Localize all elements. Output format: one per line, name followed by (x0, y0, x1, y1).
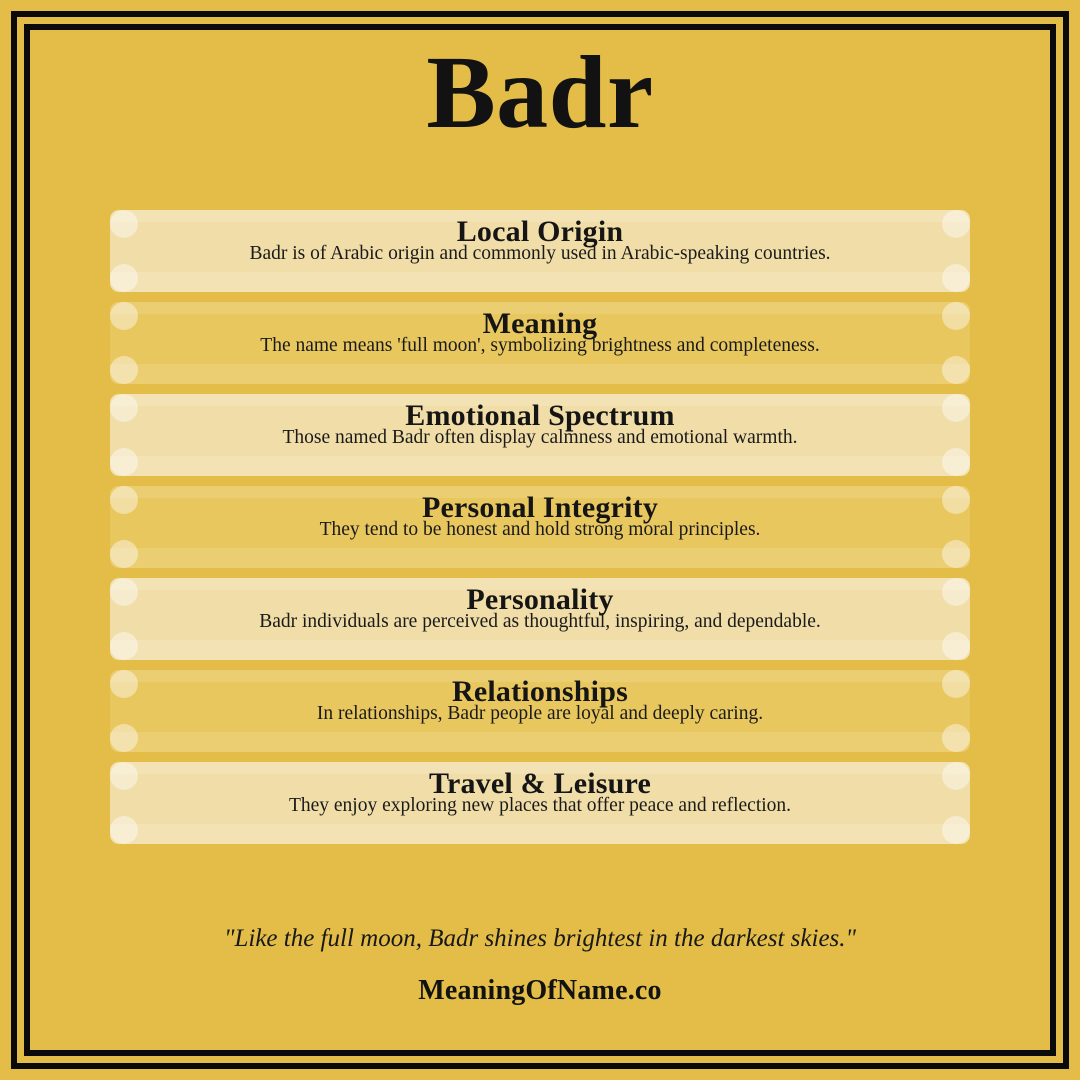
scroll-rod-bolt-icon (110, 264, 138, 292)
card-title: Local Origin (110, 210, 970, 247)
card-text-block: Travel & LeisureThey enjoy exploring new… (110, 762, 970, 816)
tagline-quote: "Like the full moon, Badr shines brighte… (30, 925, 1050, 953)
attribute-card: MeaningThe name means 'full moon', symbo… (110, 302, 970, 384)
attribute-card: Local OriginBadr is of Arabic origin and… (110, 210, 970, 292)
attribute-card: RelationshipsIn relationships, Badr peop… (110, 670, 970, 752)
scroll-rod-bolt-icon (110, 632, 138, 660)
scroll-rod-bolt-icon (942, 816, 970, 844)
card-title: Meaning (110, 302, 970, 339)
scroll-rod-bolt-icon (110, 540, 138, 568)
card-title: Emotional Spectrum (110, 394, 970, 431)
attribute-card: Travel & LeisureThey enjoy exploring new… (110, 762, 970, 844)
card-title: Personality (110, 578, 970, 615)
card-description: Those named Badr often display calmness … (110, 428, 970, 448)
poster-content: Badr Local OriginBadr is of Arabic origi… (30, 30, 1050, 1050)
scroll-rod-bolt-icon (942, 632, 970, 660)
card-text-block: Local OriginBadr is of Arabic origin and… (110, 210, 970, 264)
card-description: Badr individuals are perceived as though… (110, 612, 970, 632)
name-meaning-poster: Badr Local OriginBadr is of Arabic origi… (0, 0, 1080, 1080)
card-description: The name means 'full moon', symbolizing … (110, 336, 970, 356)
card-description: Badr is of Arabic origin and commonly us… (110, 244, 970, 264)
card-text-block: Emotional SpectrumThose named Badr often… (110, 394, 970, 448)
attribute-card: PersonalityBadr individuals are perceive… (110, 578, 970, 660)
card-description: They enjoy exploring new places that off… (110, 796, 970, 816)
attribute-card-list: Local OriginBadr is of Arabic origin and… (110, 210, 970, 854)
scroll-rod-bolt-icon (942, 540, 970, 568)
scroll-rod-bolt-icon (942, 448, 970, 476)
card-title: Personal Integrity (110, 486, 970, 523)
scroll-rod-bolt-icon (110, 448, 138, 476)
scroll-rod-bolt-icon (110, 356, 138, 384)
page-title: Badr (30, 38, 1050, 147)
scroll-rod-bolt-icon (942, 264, 970, 292)
scroll-rod-bolt-icon (942, 724, 970, 752)
attribute-card: Emotional SpectrumThose named Badr often… (110, 394, 970, 476)
card-text-block: Personal IntegrityThey tend to be honest… (110, 486, 970, 540)
card-description: They tend to be honest and hold strong m… (110, 520, 970, 540)
card-text-block: PersonalityBadr individuals are perceive… (110, 578, 970, 632)
card-description: In relationships, Badr people are loyal … (110, 704, 970, 724)
brand-watermark: MeaningOfName.co (30, 975, 1050, 1007)
card-text-block: RelationshipsIn relationships, Badr peop… (110, 670, 970, 724)
scroll-rod-bolt-icon (942, 356, 970, 384)
attribute-card: Personal IntegrityThey tend to be honest… (110, 486, 970, 568)
scroll-rod-bolt-icon (110, 816, 138, 844)
scroll-rod-bolt-icon (110, 724, 138, 752)
card-title: Relationships (110, 670, 970, 707)
card-text-block: MeaningThe name means 'full moon', symbo… (110, 302, 970, 356)
card-title: Travel & Leisure (110, 762, 970, 799)
